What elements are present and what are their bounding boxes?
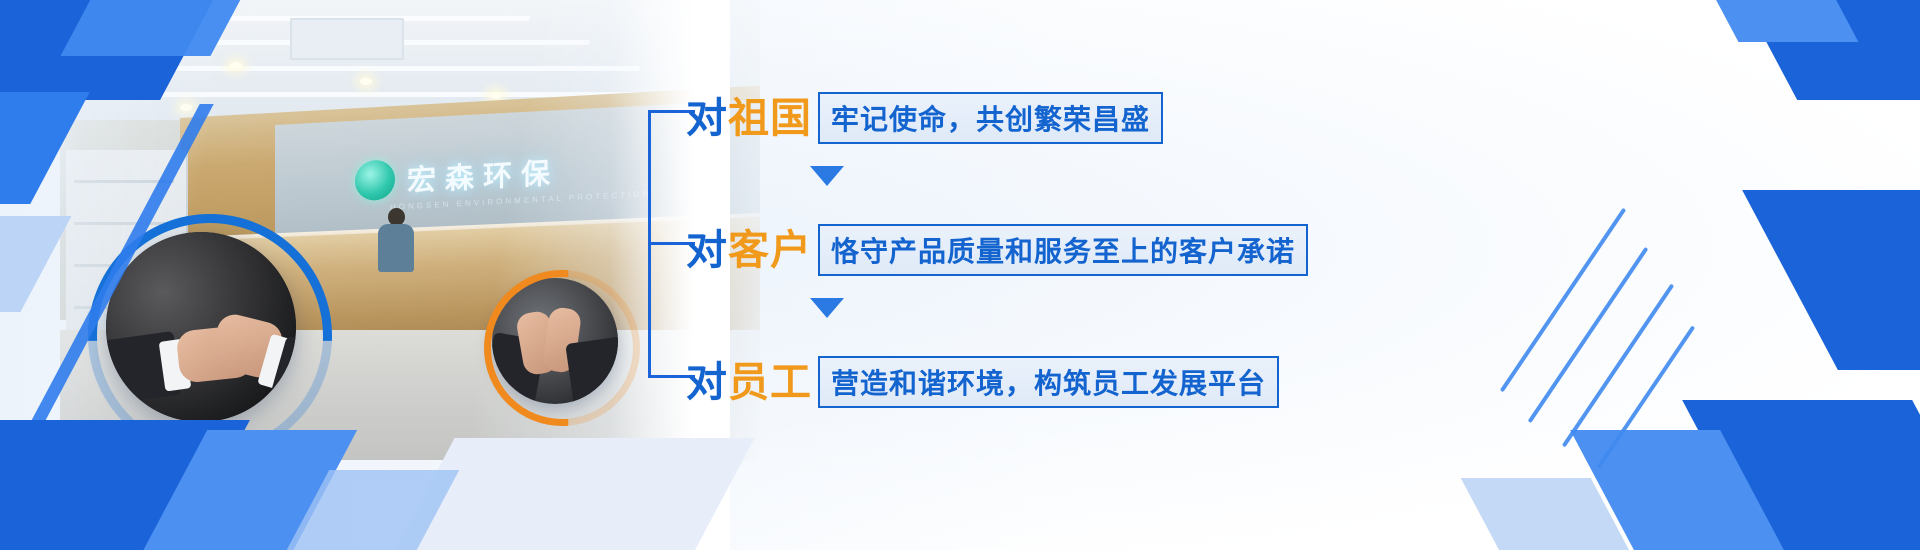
triangle-down-icon <box>810 298 844 318</box>
company-name-sign: 宏森环保 <box>407 150 559 200</box>
value-prefix-customer: 对 <box>686 226 728 274</box>
triangle-down-icon <box>810 166 844 186</box>
value-statement-customer: 恪守产品质量和服务至上的客户承诺 <box>818 224 1308 276</box>
company-values-banner: 宏森环保 HONGSEN ENVIRONMENTAL PROTECTION <box>0 0 1920 550</box>
value-row-employee: 对员工 营造和谐环境，构筑员工发展平台 <box>686 356 1279 408</box>
value-keyword-country: 祖国 <box>728 94 812 142</box>
value-keyword-employee: 员工 <box>728 358 812 406</box>
values-list: 对祖国 牢记使命，共创繁荣昌盛 对客户 恪守产品质量和服务至上的客户承诺 对员工… <box>648 78 1368 408</box>
value-row-country: 对祖国 牢记使命，共创繁荣昌盛 <box>686 92 1163 144</box>
ceiling-vent <box>290 18 404 60</box>
value-statement-country: 牢记使命，共创繁荣昌盛 <box>818 92 1163 144</box>
value-keyword-customer: 客户 <box>728 226 812 274</box>
value-prefix-employee: 对 <box>686 358 728 406</box>
receptionist <box>378 208 414 270</box>
globe-leaf-logo-icon <box>355 159 395 201</box>
value-prefix-country: 对 <box>686 94 728 142</box>
value-statement-employee: 营造和谐环境，构筑员工发展平台 <box>818 356 1279 408</box>
value-row-customer: 对客户 恪守产品质量和服务至上的客户承诺 <box>686 224 1308 276</box>
